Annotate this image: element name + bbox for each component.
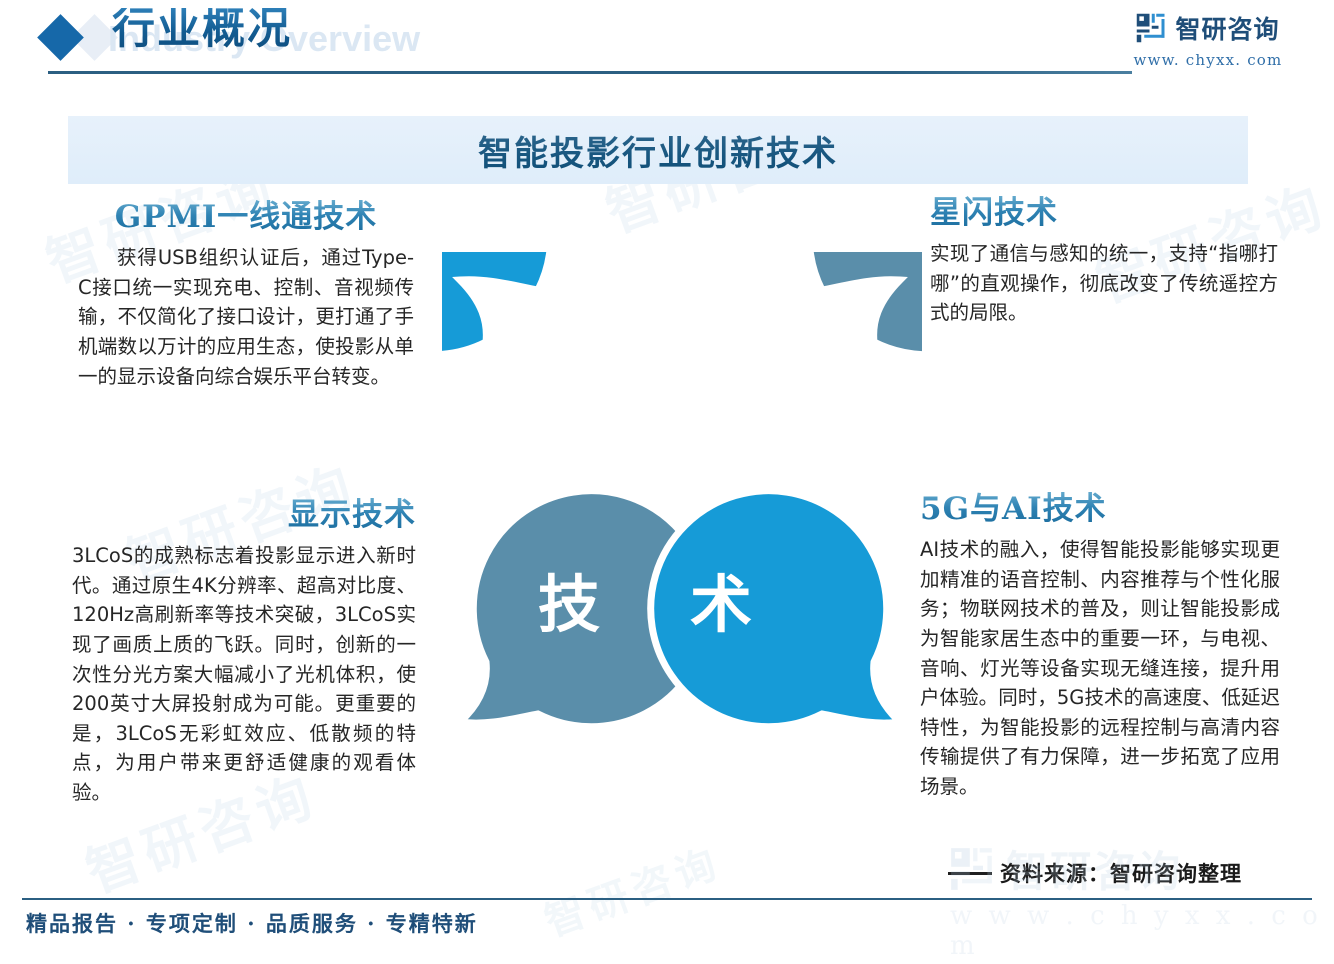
slide-page: Industry Overview 行业概况 [0, 0, 1334, 964]
footer-divider [22, 898, 1312, 900]
block-gpmi: GPMI一线通技术 获得USB组织认证后，通过Type-C接口统一实现充电、控制… [78, 200, 414, 391]
bubble-char-xin: 新 [684, 351, 746, 413]
block-5g-ai-title: 5G与AI技术 [920, 492, 1280, 526]
bubble-xin-shape [809, 252, 922, 355]
block-gpmi-body: 获得USB组织认证后，通过Type-C接口统一实现充电、控制、音视频传输，不仅简… [78, 243, 414, 391]
bubble-char-shu: 术 [690, 574, 752, 636]
block-xingshan: 星闪技术 实现了通信与感知的统一，支持“指哪打哪”的直观操作，彻底改变了传统遥控… [930, 196, 1278, 328]
source-note: 资料来源：智研咨询整理 [1000, 858, 1242, 888]
zhiyan-logo-watermark-icon [950, 847, 994, 891]
bubble-char-chuang: 创 [536, 351, 598, 413]
bubble-chuang-shape [442, 252, 551, 355]
card-title-text: 智能投影行业创新技术 [68, 116, 1248, 184]
bubble-diagram: 创 新 技 术 [442, 252, 922, 752]
brand-url[interactable]: www. chyxx. com [1108, 51, 1308, 69]
block-display-title: 显示技术 [72, 498, 416, 532]
block-gpmi-title: GPMI一线通技术 [78, 200, 414, 234]
bubble-char-ji: 技 [538, 574, 600, 636]
block-display: 显示技术 3LCoS的成熟标志着投影显示进入新时代。通过原生4K分辨率、超高对比… [72, 498, 416, 808]
footer-watermark-url: w w w . c h y x x . c o m [950, 901, 1334, 961]
bubble-shu-shape [651, 491, 900, 727]
block-xingshan-body: 实现了通信与感知的统一，支持“指哪打哪”的直观操作，彻底改变了传统遥控方式的局限… [930, 239, 1278, 328]
brand-name: 智研咨询 [1175, 10, 1279, 46]
block-display-body: 3LCoS的成熟标志着投影显示进入新时代。通过原生4K分辨率、超高对比度、120… [72, 541, 416, 808]
footer-tagline: 精品报告 · 专项定制 · 品质服务 · 专精特新 [26, 908, 478, 938]
source-dash [948, 872, 992, 875]
zhiyan-logo-icon [1136, 13, 1166, 43]
card-title-band: 智能投影行业创新技术 [68, 116, 1248, 184]
header-divider [48, 71, 1132, 74]
bubble-diagram-svg [442, 252, 922, 752]
block-xingshan-title: 星闪技术 [930, 196, 1278, 230]
diamond-front-icon [37, 14, 84, 61]
brand-block: 智研咨询 www. chyxx. com [1108, 10, 1308, 69]
block-5g-ai: 5G与AI技术 AI技术的融入，使得智能投影能够实现更加精准的语音控制、内容推荐… [920, 492, 1280, 802]
page-title-text: 行业概况 [112, 8, 292, 51]
block-5g-ai-body: AI技术的融入，使得智能投影能够实现更加精准的语音控制、内容推荐与个性化服务；物… [920, 535, 1280, 802]
page-header: Industry Overview 行业概况 [0, 0, 1334, 92]
